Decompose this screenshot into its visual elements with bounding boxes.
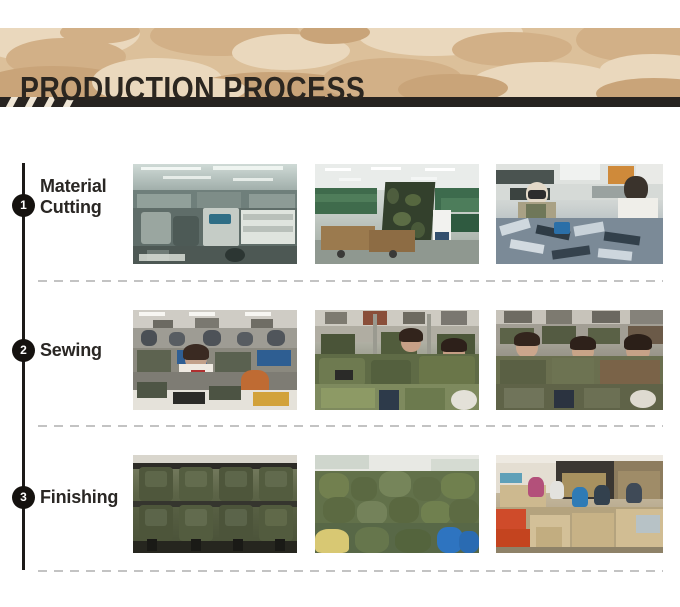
step-label-1: Material Cutting	[40, 176, 132, 218]
process-photo-3-2[interactable]	[315, 455, 479, 553]
row-divider-3	[38, 570, 663, 572]
process-photo-2-1[interactable]	[133, 310, 297, 410]
process-photo-1-3[interactable]	[496, 164, 663, 264]
step-number-badge-3: 3	[12, 486, 35, 509]
diagonal-stripe-icon	[3, 97, 21, 107]
process-photo-1-2[interactable]	[315, 164, 479, 264]
process-photo-2-2[interactable]	[315, 310, 479, 410]
step-label-2-line1: Sewing	[40, 340, 132, 361]
process-photo-3-1[interactable]	[133, 455, 297, 553]
row-divider-2	[38, 425, 663, 427]
page-header: PRODUCTION PROCESS	[0, 28, 680, 107]
step-number-badge-1: 1	[12, 194, 35, 217]
step-label-1-line1: Material	[40, 176, 132, 197]
step-label-1-line2: Cutting	[40, 197, 132, 218]
production-process-page: PRODUCTION PROCESS 1 Material Cutting	[0, 0, 680, 607]
process-photo-3-3[interactable]	[496, 455, 663, 553]
page-title: PRODUCTION PROCESS	[20, 72, 365, 105]
step-number-badge-2: 2	[12, 339, 35, 362]
step-label-2: Sewing	[40, 340, 132, 361]
process-photo-1-1[interactable]	[133, 164, 297, 264]
process-photo-2-3[interactable]	[496, 310, 663, 410]
row-divider-1	[38, 280, 663, 282]
